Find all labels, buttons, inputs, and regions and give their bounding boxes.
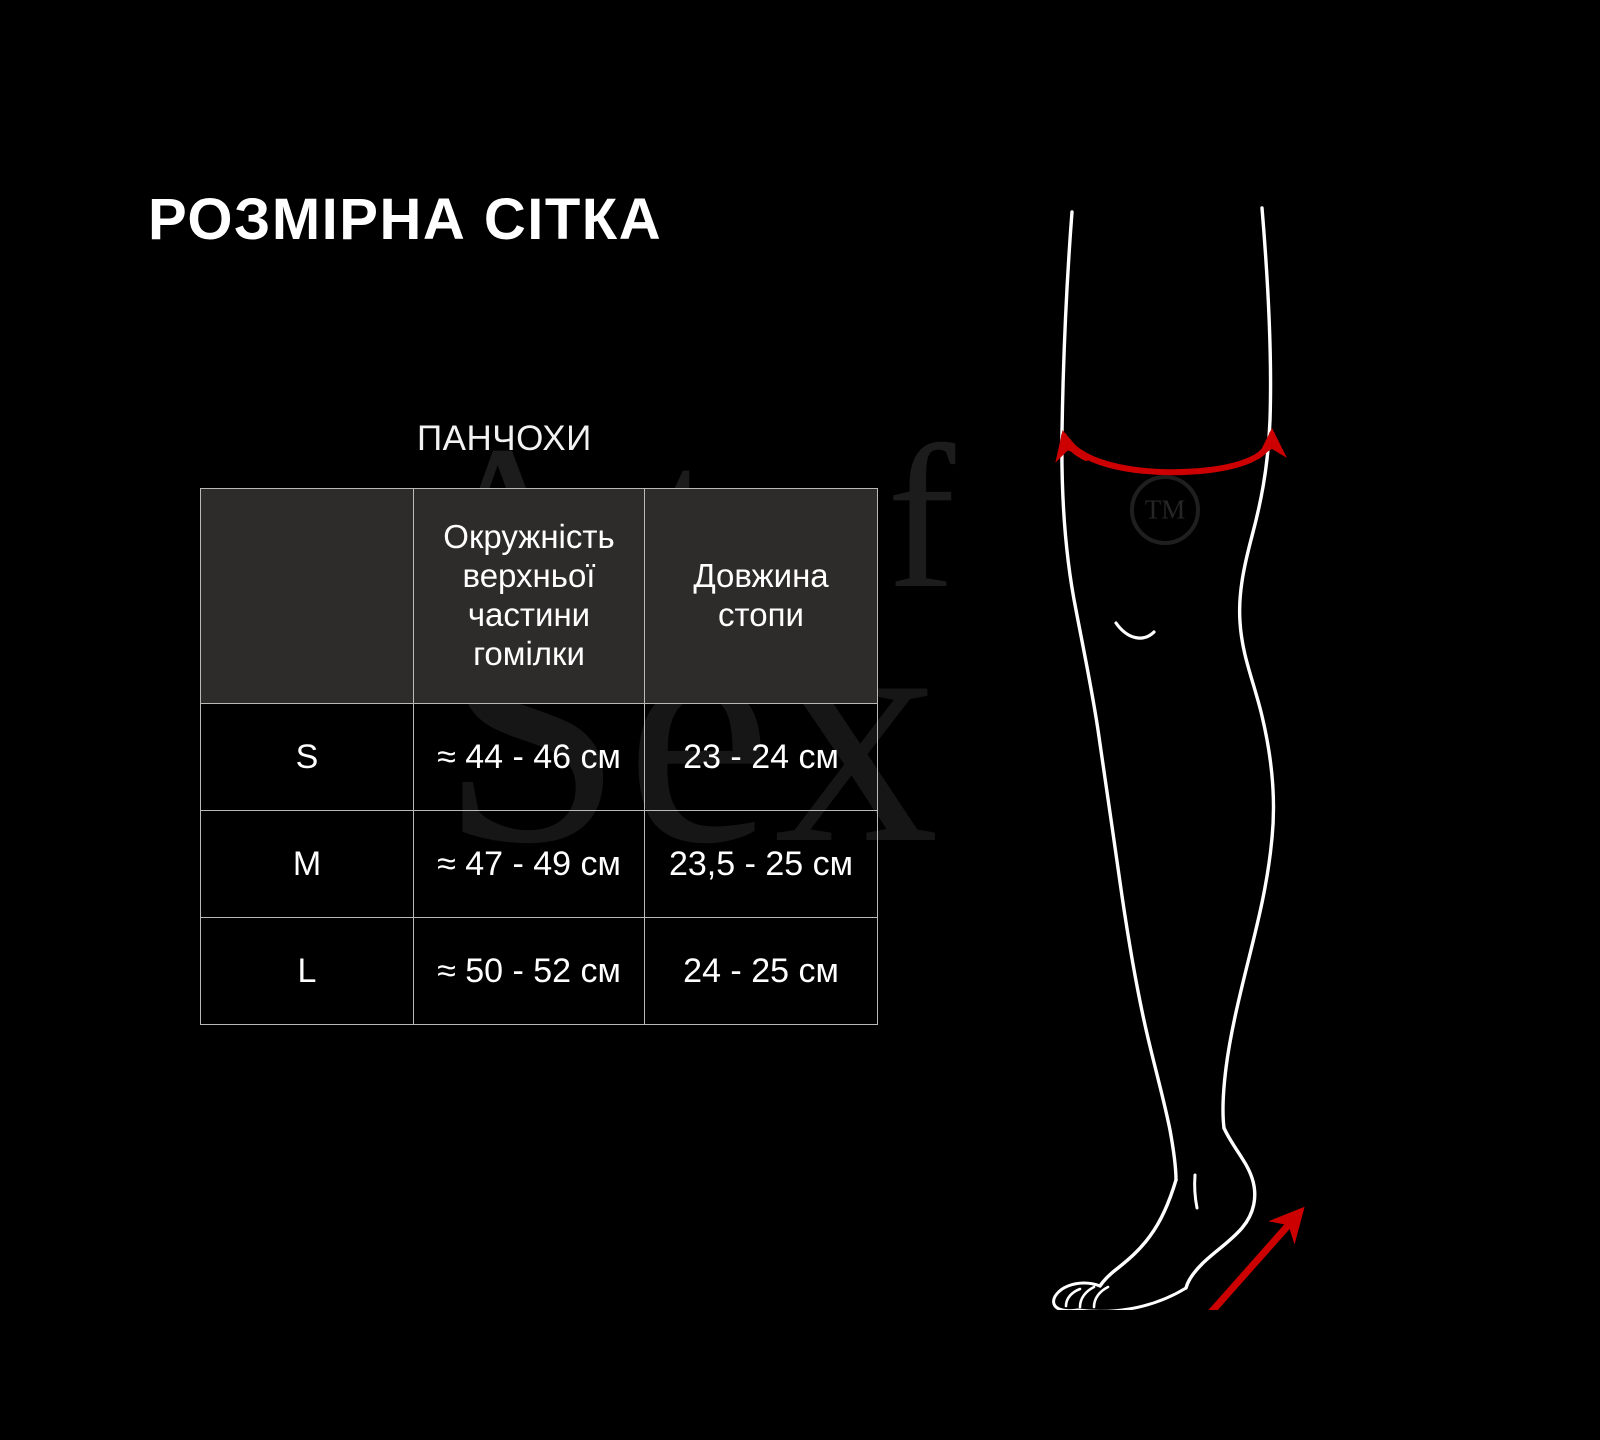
table-row: S ≈ 44 - 46 см 23 - 24 см xyxy=(201,704,878,811)
table-body: S ≈ 44 - 46 см 23 - 24 см M ≈ 47 - 49 см… xyxy=(201,704,878,1025)
cell-foot-length: 23 - 24 см xyxy=(645,704,878,811)
toe-line-1 xyxy=(1066,1289,1080,1306)
column-header-circumference: Окружність верхньої частини гомілки xyxy=(414,489,645,704)
section-label-stockings: ПАНЧОХИ xyxy=(417,419,592,459)
column-header-size xyxy=(201,489,414,704)
cell-foot-length: 24 - 25 см xyxy=(645,918,878,1025)
thigh-measure-arrow-right xyxy=(1258,434,1272,456)
cell-size: L xyxy=(201,918,414,1025)
leg-diagram-svg xyxy=(1000,170,1420,1310)
kneecap-detail xyxy=(1116,623,1154,638)
leg-diagram xyxy=(1000,170,1420,1310)
cell-size: M xyxy=(201,811,414,918)
achilles-detail xyxy=(1195,1175,1197,1208)
column-header-foot-length: Довжина стопи xyxy=(645,489,878,704)
table-header-row: Окружність верхньої частини гомілки Довж… xyxy=(201,489,878,704)
toe-line-3 xyxy=(1094,1287,1108,1307)
leg-outline-right xyxy=(1223,208,1274,1128)
foot-instep-outline xyxy=(1100,1180,1176,1286)
cell-foot-length: 23,5 - 25 см xyxy=(645,811,878,918)
size-chart-table: Окружність верхньої частини гомілки Довж… xyxy=(200,488,878,1025)
cell-size: S xyxy=(201,704,414,811)
table-row: L ≈ 50 - 52 см 24 - 25 см xyxy=(201,918,878,1025)
table-header: Окружність верхньої частини гомілки Довж… xyxy=(201,489,878,704)
toe-line-2 xyxy=(1080,1287,1094,1307)
cell-circumference: ≈ 50 - 52 см xyxy=(414,918,645,1025)
cell-circumference: ≈ 47 - 49 см xyxy=(414,811,645,918)
thigh-measure-ellipse xyxy=(1068,440,1270,472)
table-row: M ≈ 47 - 49 см 23,5 - 25 см xyxy=(201,811,878,918)
cell-circumference: ≈ 44 - 46 см xyxy=(414,704,645,811)
leg-outline-left xyxy=(1062,212,1176,1180)
page-title: РОЗМІРНА СІТКА xyxy=(148,186,662,253)
